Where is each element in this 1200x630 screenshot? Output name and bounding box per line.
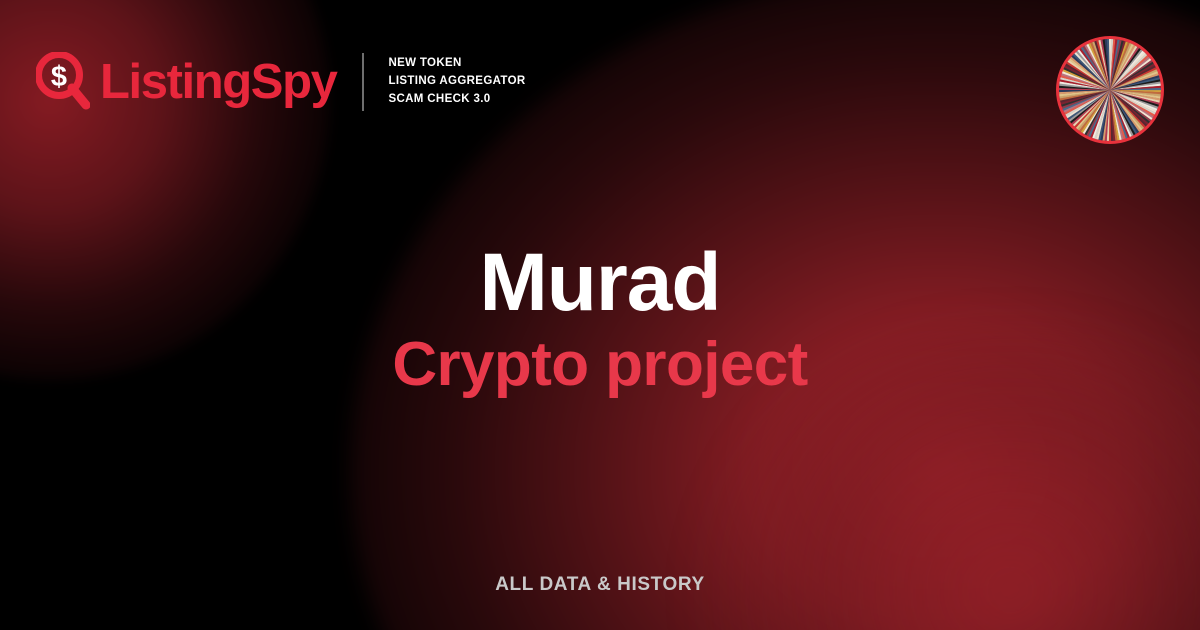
- header-divider: [362, 53, 364, 111]
- brand-header[interactable]: $ ListingSpy NEW TOKEN LISTING AGGREGATO…: [36, 52, 526, 112]
- page-subtitle: Crypto project: [0, 331, 1200, 399]
- footer-caption: ALL DATA & HISTORY: [0, 574, 1200, 596]
- tagline-line-3: SCAM CHECK 3.0: [388, 91, 525, 109]
- tagline-line-2: LISTING AGGREGATOR: [388, 73, 525, 91]
- svg-text:$: $: [51, 61, 67, 93]
- share-card-canvas: $ ListingSpy NEW TOKEN LISTING AGGREGATO…: [0, 0, 1200, 630]
- brand-wordmark: ListingSpy: [100, 58, 336, 107]
- headline-block: Murad Crypto project: [0, 240, 1200, 399]
- magnifier-dollar-icon: $: [36, 52, 90, 112]
- token-sunburst-avatar[interactable]: [1056, 36, 1164, 144]
- brand-tagline: NEW TOKEN LISTING AGGREGATOR SCAM CHECK …: [388, 55, 525, 108]
- sunburst-icon: [1059, 39, 1161, 141]
- page-title: Murad: [0, 240, 1200, 325]
- tagline-line-1: NEW TOKEN: [388, 55, 525, 73]
